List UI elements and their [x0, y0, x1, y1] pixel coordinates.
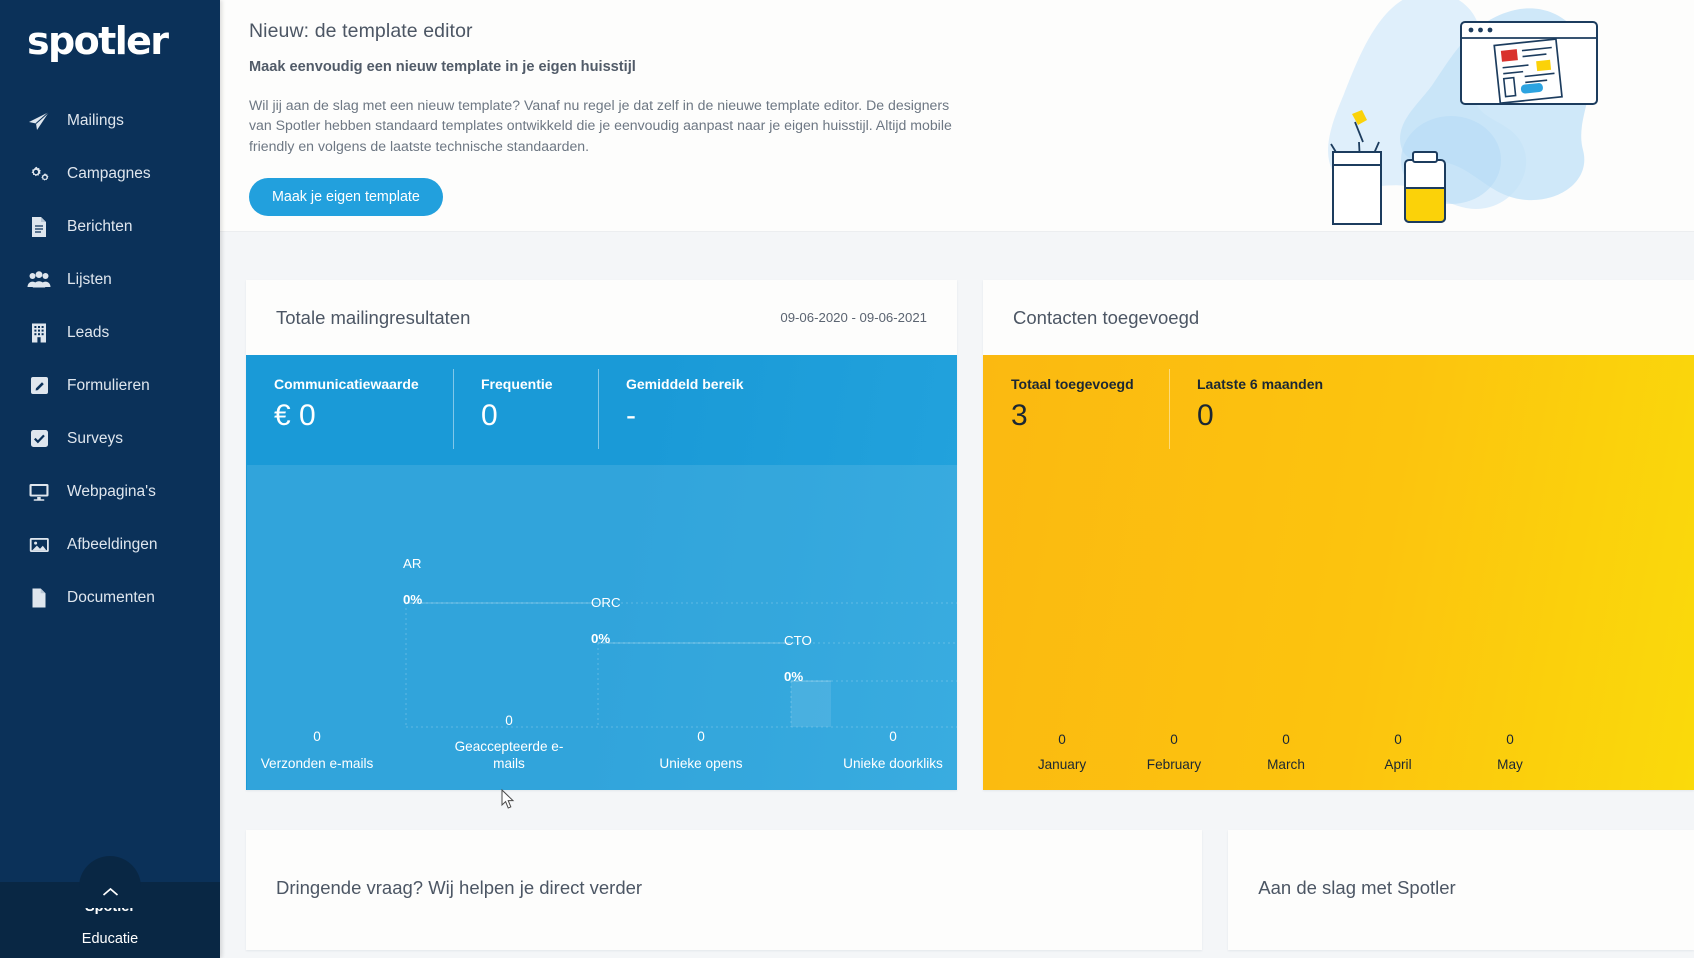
mailing-card-body: Communicatiewaarde € 0 Frequentie 0 Gemi… [246, 355, 957, 790]
sidebar-item-formulieren[interactable]: Formulieren [0, 359, 220, 412]
bar-value: 0 [1118, 733, 1230, 747]
sidebar-item-label: Formulieren [67, 378, 150, 394]
rate-code: ORC [591, 596, 621, 609]
sidebar-collapse-button[interactable] [79, 856, 141, 908]
funnel-rate-cto: CTO 0% [784, 634, 812, 684]
mailing-funnel-chart: AR 0% ORC 0% CTO 0% 0 [246, 465, 957, 790]
sidebar-item-afbeeldingen[interactable]: Afbeeldingen [0, 518, 220, 571]
brand-logo[interactable]: spotler [0, 0, 220, 94]
chevron-up-icon [102, 885, 119, 900]
sidebar-item-mailings[interactable]: Mailings [0, 94, 220, 147]
card-aan-de-slag: Aan de slag met Spotler [1228, 830, 1694, 950]
bar-col-february: 0 February [1118, 733, 1230, 772]
funnel-value: 0 [833, 730, 953, 744]
file-icon [27, 587, 51, 609]
card-title: Dringende vraag? Wij helpen je direct ve… [246, 830, 1202, 899]
create-template-button[interactable]: Maak je eigen template [249, 178, 443, 216]
users-group-icon [27, 269, 51, 291]
sidebar-nav: Mailings Campagnes [0, 94, 220, 624]
kpi-gemiddeld-bereik: Gemiddeld bereik - [598, 355, 798, 465]
funnel-label: Unieke doorkliks [833, 756, 953, 772]
bar-col-march: 0 March [1230, 733, 1342, 772]
funnel-rate-orc: ORC 0% [591, 596, 621, 646]
funnel-col-unieke-opens: 0 Unieke opens [641, 730, 761, 772]
bar-label: January [1006, 758, 1118, 772]
rate-value: 0% [403, 593, 422, 606]
bar-value: 0 [1342, 733, 1454, 747]
bar-col-april: 0 April [1342, 733, 1454, 772]
funnel-col-unieke-doorkliks: 0 Unieke doorkliks [833, 730, 953, 772]
kpi-label: Gemiddeld bereik [626, 377, 798, 391]
promo-title: Nieuw: de template editor [249, 20, 930, 43]
sidebar-item-label: Mailings [67, 113, 124, 129]
rate-value: 0% [784, 670, 812, 683]
contacts-bar-chart: 0 January 0 February 0 March 0 [983, 465, 1694, 790]
sidebar-footer: Spotler Educatie [0, 882, 220, 958]
sidebar-item-label: Afbeeldingen [67, 537, 158, 553]
paper-plane-icon [27, 110, 51, 132]
card-title: Totale mailingresultaten [276, 307, 470, 329]
bar-col-january: 0 January [1006, 733, 1118, 772]
rate-code: AR [403, 557, 422, 570]
logo-text: spotler [27, 22, 220, 60]
sidebar-item-webpaginas[interactable]: Webpagina's [0, 465, 220, 518]
monitor-icon [27, 481, 51, 503]
bar-label: April [1342, 758, 1454, 772]
funnel-col-geaccepteerde: 0 Geaccepteerde e-mails [449, 714, 569, 772]
sidebar-item-label: Berichten [67, 219, 132, 235]
sidebar-item-leads[interactable]: Leads [0, 306, 220, 359]
kpi-value: 3 [1011, 401, 1169, 431]
kpi-value: - [626, 401, 798, 431]
sidebar-item-label: Lijsten [67, 272, 112, 288]
building-icon [27, 322, 51, 344]
kpi-totaal-toegevoegd: Totaal toegevoegd 3 [983, 355, 1169, 465]
template-editor-illustration [1319, 0, 1619, 232]
promo-banner: Nieuw: de template editor Maak eenvoudig… [220, 0, 1694, 232]
checkbox-checked-icon [27, 428, 51, 450]
mailing-kpi-strip: Communicatiewaarde € 0 Frequentie 0 Gemi… [246, 355, 957, 465]
date-range-label[interactable]: 09-06-2020 - 09-06-2021 [780, 310, 927, 325]
kpi-label: Communicatiewaarde [274, 377, 453, 391]
card-dringende-vraag: Dringende vraag? Wij helpen je direct ve… [246, 830, 1202, 950]
contacts-kpi-strip: Totaal toegevoegd 3 Laatste 6 maanden 0 [983, 355, 1694, 465]
bar-value: 0 [1454, 733, 1566, 747]
card-header: Totale mailingresultaten 09-06-2020 - 09… [246, 280, 957, 355]
education-link[interactable]: Educatie [0, 932, 220, 947]
main-content: Nieuw: de template editor Maak eenvoudig… [220, 0, 1694, 958]
bar-label: February [1118, 758, 1230, 772]
rate-value: 0% [591, 632, 621, 645]
funnel-col-verzonden: 0 Verzonden e-mails [257, 730, 377, 772]
bottom-cards-row: Dringende vraag? Wij helpen je direct ve… [220, 790, 1694, 950]
kpi-value: 0 [1197, 401, 1369, 431]
dashboard-page: spotler Mailings [0, 0, 1694, 958]
funnel-label: Unieke opens [641, 756, 761, 772]
promo-body-text: Wil jij aan de slag met een nieuw templa… [249, 95, 961, 156]
kpi-communicatiewaarde: Communicatiewaarde € 0 [246, 355, 453, 465]
kpi-value: 0 [481, 401, 598, 431]
bar-value: 0 [1006, 733, 1118, 747]
kpi-label: Frequentie [481, 377, 598, 391]
contacts-card-body: Totaal toegevoegd 3 Laatste 6 maanden 0 … [983, 355, 1694, 790]
funnel-rate-ar: AR 0% [403, 557, 422, 607]
card-title: Aan de slag met Spotler [1228, 830, 1694, 899]
kpi-frequentie: Frequentie 0 [453, 355, 598, 465]
pencil-square-icon [27, 375, 51, 397]
sidebar-item-label: Surveys [67, 431, 123, 447]
funnel-value: 0 [641, 730, 761, 744]
sidebar-item-label: Leads [67, 325, 109, 341]
bar-label: March [1230, 758, 1342, 772]
bar-col-may: 0 May [1454, 733, 1566, 772]
promo-subtitle: Maak eenvoudig een nieuw template in je … [249, 59, 930, 75]
sidebar-item-berichten[interactable]: Berichten [0, 200, 220, 253]
sidebar-item-label: Campagnes [67, 166, 151, 182]
promo-text-block: Nieuw: de template editor Maak eenvoudig… [220, 0, 960, 216]
funnel-label: Geaccepteerde e-mails [449, 739, 569, 772]
bar-value: 0 [1230, 733, 1342, 747]
mouse-cursor [501, 789, 515, 815]
sidebar-item-surveys[interactable]: Surveys [0, 412, 220, 465]
card-header: Contacten toegevoegd [983, 280, 1694, 355]
sidebar-item-documenten[interactable]: Documenten [0, 571, 220, 624]
funnel-value: 0 [257, 730, 377, 744]
gears-icon [27, 163, 51, 185]
funnel-value: 0 [449, 714, 569, 728]
card-contacten-toegevoegd: Contacten toegevoegd Totaal toegevoegd 3… [983, 280, 1694, 790]
kpi-label: Laatste 6 maanden [1197, 377, 1369, 391]
kpi-label: Totaal toegevoegd [1011, 377, 1169, 391]
sidebar-item-lijsten[interactable]: Lijsten [0, 253, 220, 306]
card-title: Contacten toegevoegd [1013, 307, 1199, 329]
bar-label: May [1454, 758, 1566, 772]
kpi-value: € 0 [274, 401, 453, 431]
sidebar-item-campagnes[interactable]: Campagnes [0, 147, 220, 200]
funnel-label: Verzonden e-mails [257, 756, 377, 772]
document-lines-icon [27, 216, 51, 238]
rate-code: CTO [784, 634, 812, 647]
sidebar: spotler Mailings [0, 0, 220, 958]
kpi-cards-row: Totale mailingresultaten 09-06-2020 - 09… [220, 232, 1694, 790]
sidebar-item-label: Webpagina's [67, 484, 156, 500]
kpi-laatste-6-maanden: Laatste 6 maanden 0 [1169, 355, 1369, 465]
card-totale-mailingresultaten: Totale mailingresultaten 09-06-2020 - 09… [246, 280, 957, 790]
sidebar-item-label: Documenten [67, 590, 155, 606]
image-icon [27, 534, 51, 556]
